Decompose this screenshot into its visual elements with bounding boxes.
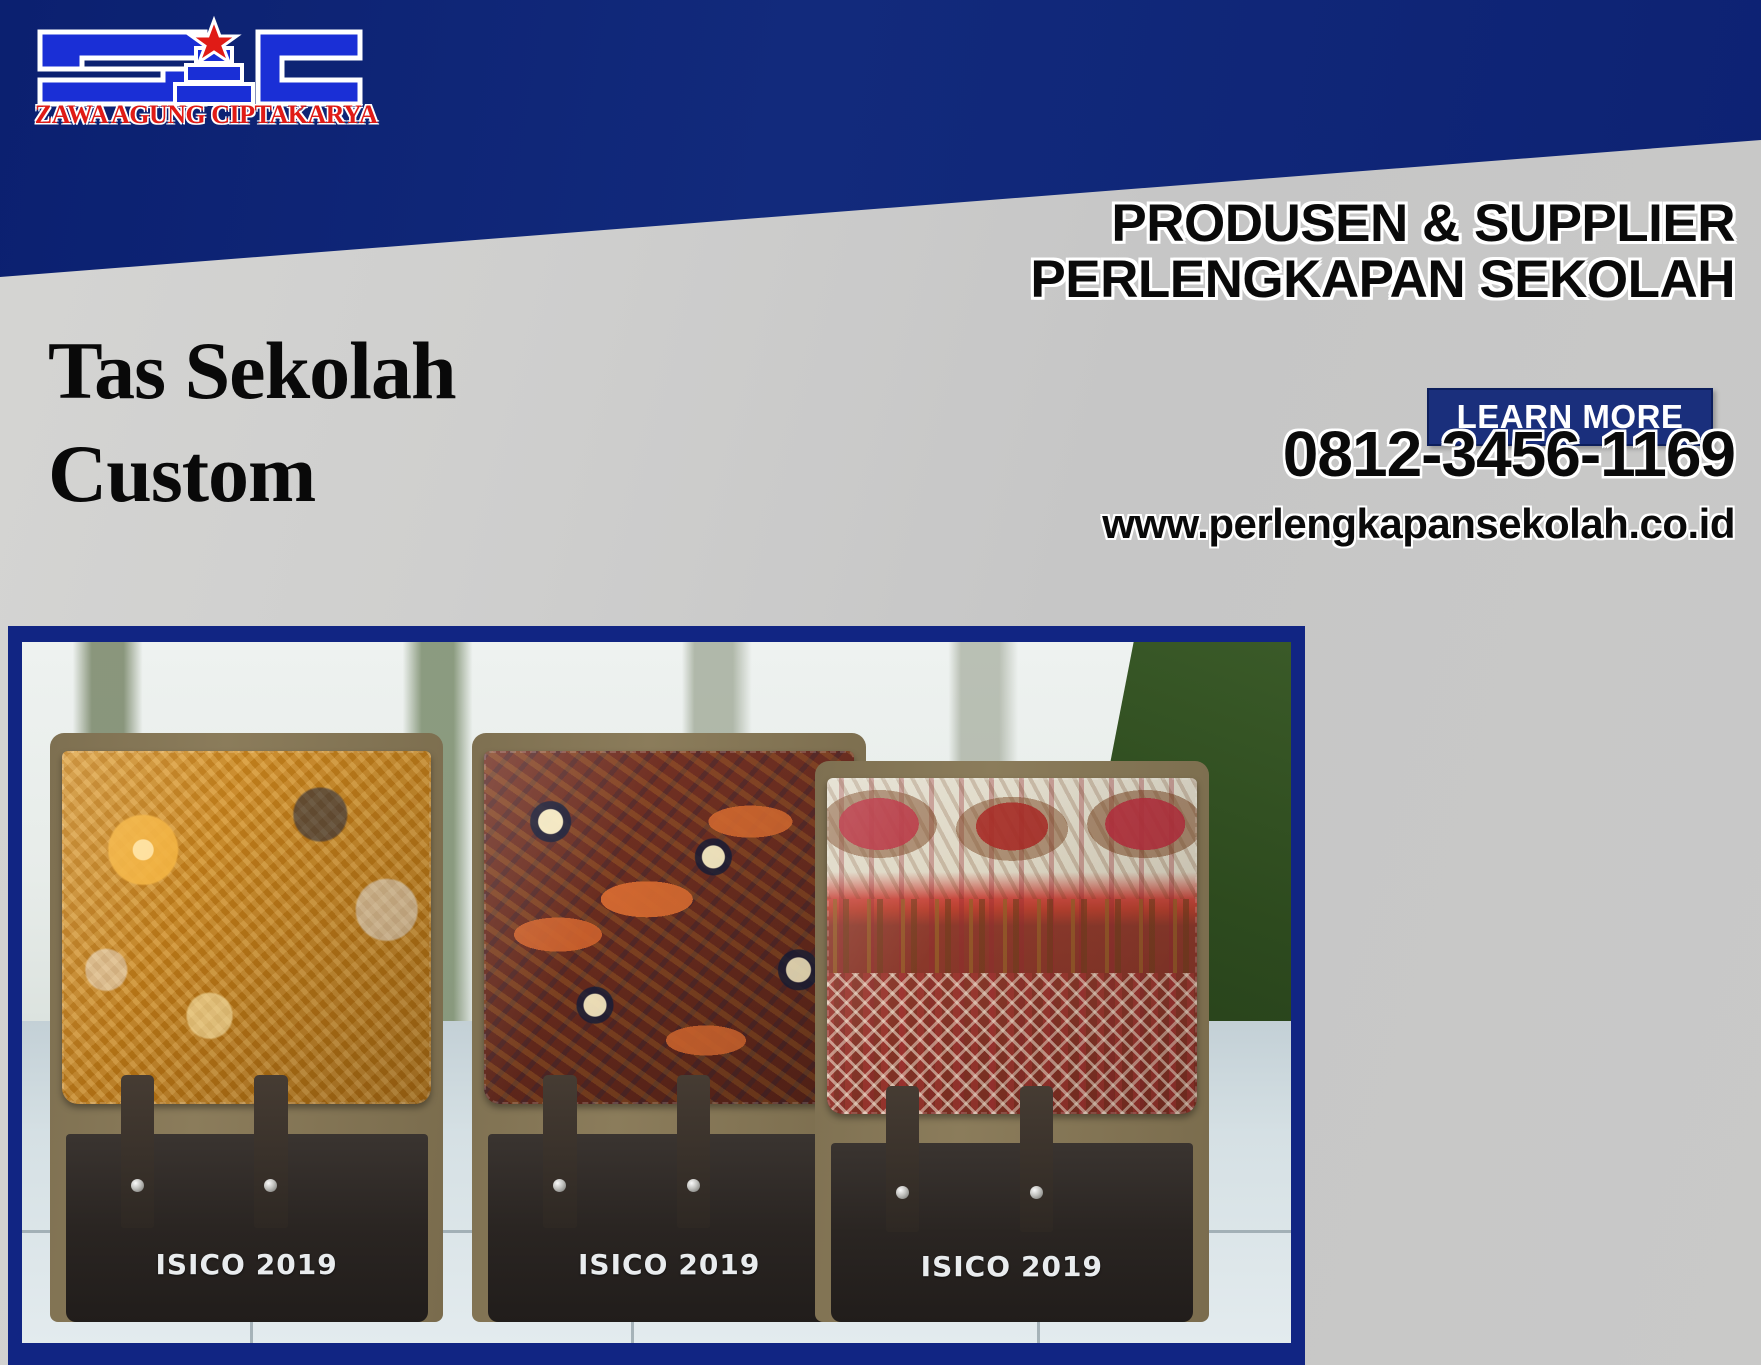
logo-letter-c [258,32,360,104]
flap-pattern-band-bottom [827,973,1197,1114]
backpack-1-strap-left [121,1075,154,1228]
promo-banner: ZAWA AGUNG CIPTAKARYA PRODUSEN & SUPPLIE… [0,0,1761,1365]
product-photo-frame: ISICO2019 ISICO2019 [8,626,1305,1365]
backpack-1-brand-label: ISICO2019 [50,1248,443,1281]
backpack-3-flap [827,778,1197,1114]
backpack-3-rivet-left [896,1186,909,1199]
headline: PRODUSEN & SUPPLIER PERLENGKAPAN SEKOLAH [700,196,1735,308]
flap-sheen [484,751,854,1104]
flap-stitching [62,751,432,1104]
backpack-2-brand-text: ISICO [578,1248,668,1281]
backpack-1-brand-text: ISICO [155,1248,245,1281]
backpack-3-brand-text: ISICO [921,1250,1011,1283]
backpack-3-year-text: 2019 [1021,1250,1103,1283]
backpack-2[interactable]: ISICO2019 [472,733,865,1322]
backpack-3[interactable]: ISICO2019 [815,761,1208,1322]
headline-line-2: PERLENGKAPAN SEKOLAH [700,252,1735,308]
backpack-2-strap-left [543,1075,576,1228]
flap-pattern-band-middle [827,899,1197,973]
backpack-2-flap [484,751,854,1104]
phone-number[interactable]: 0812-3456-1169 [700,417,1735,491]
backpack-2-brand-label: ISICO2019 [472,1248,865,1281]
website-url[interactable]: www.perlengkapansekolah.co.id [700,500,1735,548]
page-title-line-2: Custom [48,423,688,526]
page-title: Tas Sekolah Custom [48,320,688,525]
backpack-3-brand-label: ISICO2019 [815,1250,1208,1283]
backpack-3-rivet-right [1030,1186,1043,1199]
company-logo: ZAWA AGUNG CIPTAKARYA [30,14,380,139]
backpack-3-strap-left [886,1086,919,1232]
headline-line-1: PRODUSEN & SUPPLIER [700,196,1735,252]
flap-pattern-band-top [827,778,1197,899]
backpack-1-strap-right [254,1075,287,1228]
backpack-1-year-text: 2019 [256,1248,338,1281]
product-photo: ISICO2019 ISICO2019 [22,642,1291,1343]
logo-company-name: ZAWA AGUNG CIPTAKARYA [34,100,378,130]
flap-sheen [62,751,432,1104]
backpack-1-rivet-left [131,1179,144,1192]
page-title-line-1: Tas Sekolah [48,320,688,423]
flap-stitching [484,751,854,1104]
backpack-3-strap-right [1020,1086,1053,1232]
backpack-1[interactable]: ISICO2019 [50,733,443,1322]
backpack-1-flap [62,751,432,1104]
backpack-2-strap-right [677,1075,710,1228]
backpack-2-year-text: 2019 [678,1248,760,1281]
backpack-1-body [66,1134,428,1322]
